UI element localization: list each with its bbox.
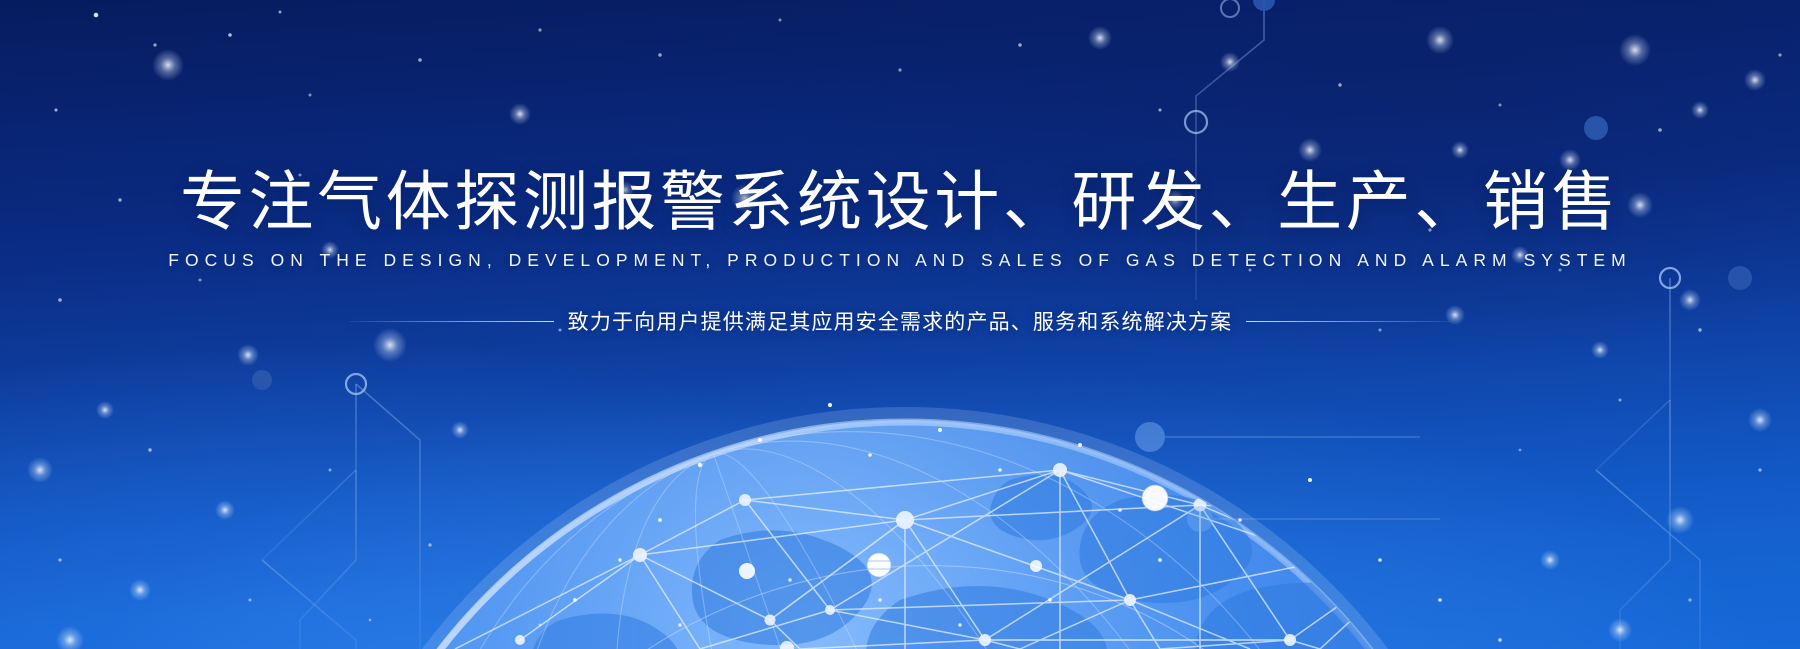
tagline-rule-left bbox=[349, 321, 554, 322]
page-title: 专注气体探测报警系统设计、研发、生产、销售 bbox=[0, 168, 1800, 237]
tagline-rule-right bbox=[1246, 321, 1451, 322]
page-subtitle-english: FOCUS ON THE DESIGN, DEVELOPMENT, PRODUC… bbox=[0, 250, 1800, 271]
tagline-text: 致力于向用户提供满足其应用安全需求的产品、服务和系统解决方案 bbox=[554, 306, 1247, 336]
hero-banner: 专注气体探测报警系统设计、研发、生产、销售 FOCUS ON THE DESIG… bbox=[0, 0, 1800, 649]
tagline-row: 致力于向用户提供满足其应用安全需求的产品、服务和系统解决方案 bbox=[0, 306, 1800, 336]
